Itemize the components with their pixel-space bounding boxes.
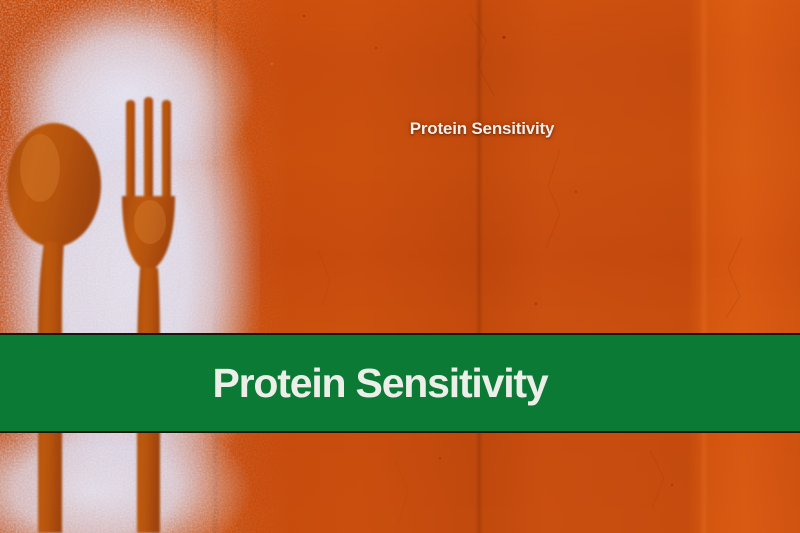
fork-icon (122, 97, 175, 533)
cutlery-silhouettes (0, 0, 230, 533)
image-canvas: Protein Sensitivity Protein Sensitivity (0, 0, 800, 533)
background-photo (0, 0, 800, 533)
banner-title: Protein Sensitivity (0, 363, 800, 404)
overlay-caption: Protein Sensitivity (0, 119, 800, 139)
title-banner: Protein Sensitivity (0, 333, 800, 433)
